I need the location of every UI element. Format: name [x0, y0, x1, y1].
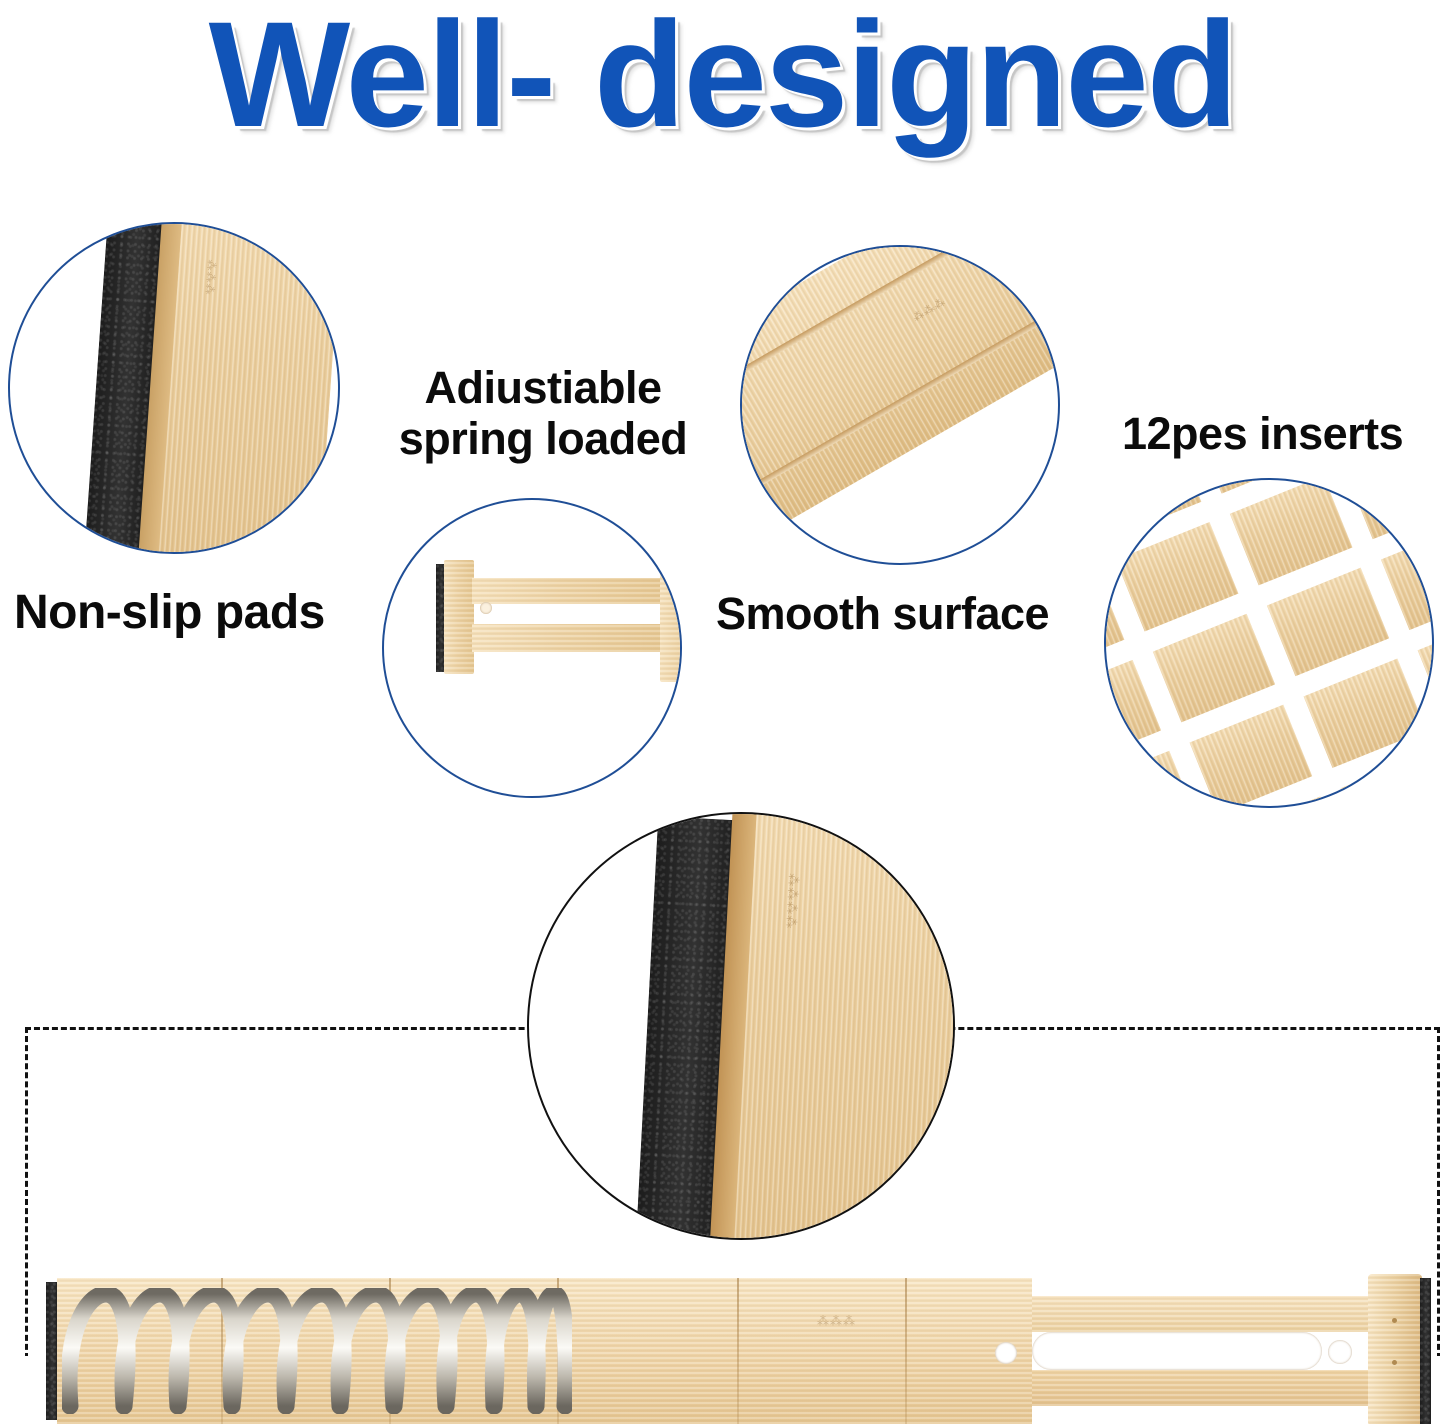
arm-lower-rail — [472, 624, 672, 652]
insert-piece — [1104, 751, 1198, 808]
feature-circle-smooth-surface: ⁂⁂⁂ — [740, 245, 1060, 565]
feature-label-smooth-surface: Smooth surface — [716, 588, 1049, 639]
insert-piece — [1344, 478, 1434, 539]
board-groove-top — [740, 245, 1060, 411]
board-brand-mark: ⁂⁂⁂ — [911, 296, 949, 326]
feature-label-line-2: spring loaded — [368, 413, 718, 464]
arm-right-block — [660, 568, 682, 682]
bamboo-block-image: ⁂⁂⁂ — [83, 222, 340, 554]
arm-adjust-hole-right — [680, 628, 682, 641]
insert-piece — [1104, 569, 1124, 678]
product-drawer-divider: ⁂⁂⁂ — [46, 1278, 1436, 1424]
feature-label-adjustable-spring-loaded: Adiustiable spring loaded — [368, 362, 718, 465]
board-face: ⁂⁂⁂ — [740, 245, 1060, 541]
board-groove-bottom — [740, 263, 1060, 503]
insert-piece — [1104, 660, 1161, 769]
arm-upper-rail — [472, 578, 672, 604]
hero-bamboo-face: ⁂⁂⁂⁂ — [733, 812, 955, 1240]
insert-piece — [1341, 750, 1434, 808]
arm-rail-bottom — [1032, 1370, 1392, 1406]
coil-spring-icon — [62, 1288, 572, 1414]
product-seam — [737, 1278, 739, 1424]
hero-bamboo-block-image: ⁂⁂⁂⁂ — [634, 812, 955, 1240]
bamboo-side-face: ⁂⁂⁂ — [158, 222, 340, 554]
product-right-pad — [1420, 1278, 1431, 1424]
page-title: Well- designed — [0, 0, 1445, 154]
insert-piece — [1418, 613, 1434, 722]
hero-circle-non-slip-pad-closeup: ⁂⁂⁂⁂ — [527, 812, 955, 1240]
inserts-grid-image — [1104, 478, 1434, 808]
product-extension-arm — [1032, 1278, 1436, 1424]
product-body-hole — [995, 1342, 1017, 1364]
arm-left-cap — [444, 560, 474, 674]
arm-adjust-hole-small — [480, 602, 492, 614]
feature-circle-non-slip-pads: ⁂⁂⁂ — [8, 222, 340, 554]
insert-piece — [1267, 568, 1389, 677]
insert-piece — [1381, 522, 1434, 631]
arm-adjust-slot — [1032, 1332, 1322, 1370]
insert-piece — [1190, 705, 1312, 808]
insert-piece — [1230, 478, 1352, 585]
product-right-cap — [1368, 1274, 1422, 1424]
insert-piece — [1304, 659, 1426, 768]
product-seam — [905, 1278, 907, 1424]
insert-piece — [1153, 614, 1275, 723]
feature-label-non-slip-pads: Non-slip pads — [14, 586, 325, 641]
feature-circle-12pcs-inserts — [1104, 478, 1434, 808]
cap-screw-dot — [1392, 1360, 1397, 1365]
hero-brand-mark: ⁂⁂⁂⁂ — [782, 873, 801, 930]
insert-piece — [1116, 522, 1238, 631]
feature-label-line-1: Adiustiable — [368, 362, 718, 413]
divider-arm-image — [422, 542, 682, 742]
product-brand-mark: ⁂⁂⁂ — [817, 1314, 856, 1329]
cap-screw-dot — [1392, 1318, 1397, 1323]
smooth-board-image: ⁂⁂⁂ — [740, 245, 1060, 541]
product-infographic: Well- designed ⁂⁂⁂ Non-slip pads Adiusti… — [0, 0, 1445, 1424]
bamboo-brand-mark: ⁂⁂⁂ — [201, 259, 217, 296]
arm-adjust-hole — [1328, 1340, 1352, 1364]
arm-rail-top — [1032, 1296, 1392, 1332]
feature-circle-adjustable-spring-loaded — [382, 498, 682, 798]
feature-label-12pcs-inserts: 12pes inserts — [1122, 408, 1403, 459]
